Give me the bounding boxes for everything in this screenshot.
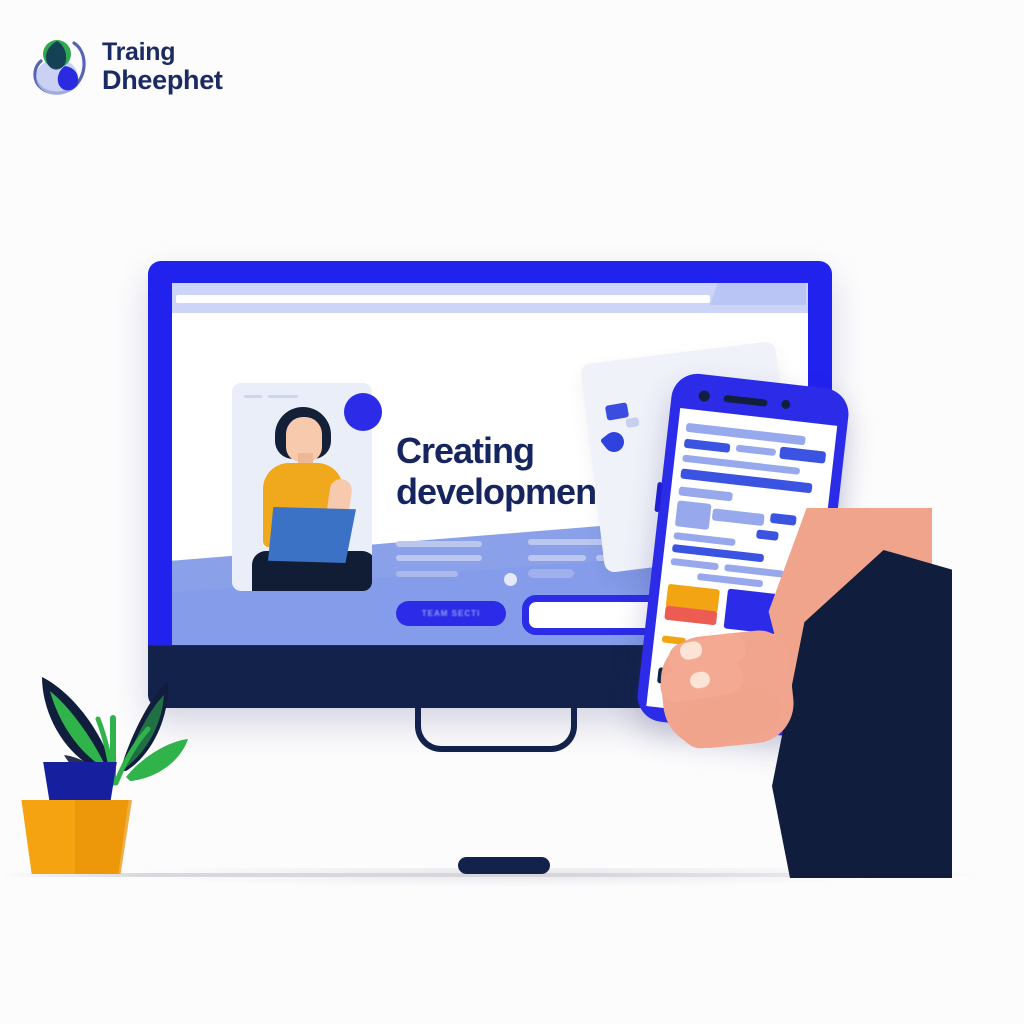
hand-holding-phone (632, 398, 932, 878)
body-line (528, 555, 586, 561)
decor-pill (528, 569, 574, 578)
decor-dot (504, 573, 517, 586)
monitor-stand-base (458, 857, 550, 874)
address-bar[interactable] (176, 295, 710, 303)
body-line (396, 555, 482, 561)
brand-logo[interactable]: Traing Dheephet (30, 33, 223, 101)
body-line (396, 571, 458, 577)
leaf-droplet-logo-icon (30, 33, 92, 101)
browser-tab[interactable] (710, 283, 806, 305)
illustration-canvas: Traing Dheephet (0, 0, 1024, 1024)
body-line (396, 541, 482, 547)
brand-line-2: Dheephet (102, 66, 223, 95)
cta-button-label: TEAM SECTI (422, 609, 480, 618)
brand-line-1: Traing (102, 39, 223, 66)
laptop-icon (268, 507, 356, 563)
monitor-stand-neck (415, 704, 577, 752)
brand-name: Traing Dheephet (102, 39, 223, 95)
browser-bar (172, 283, 808, 313)
blue-circle-accent (344, 393, 382, 431)
cta-button[interactable]: TEAM SECTI (396, 601, 506, 626)
